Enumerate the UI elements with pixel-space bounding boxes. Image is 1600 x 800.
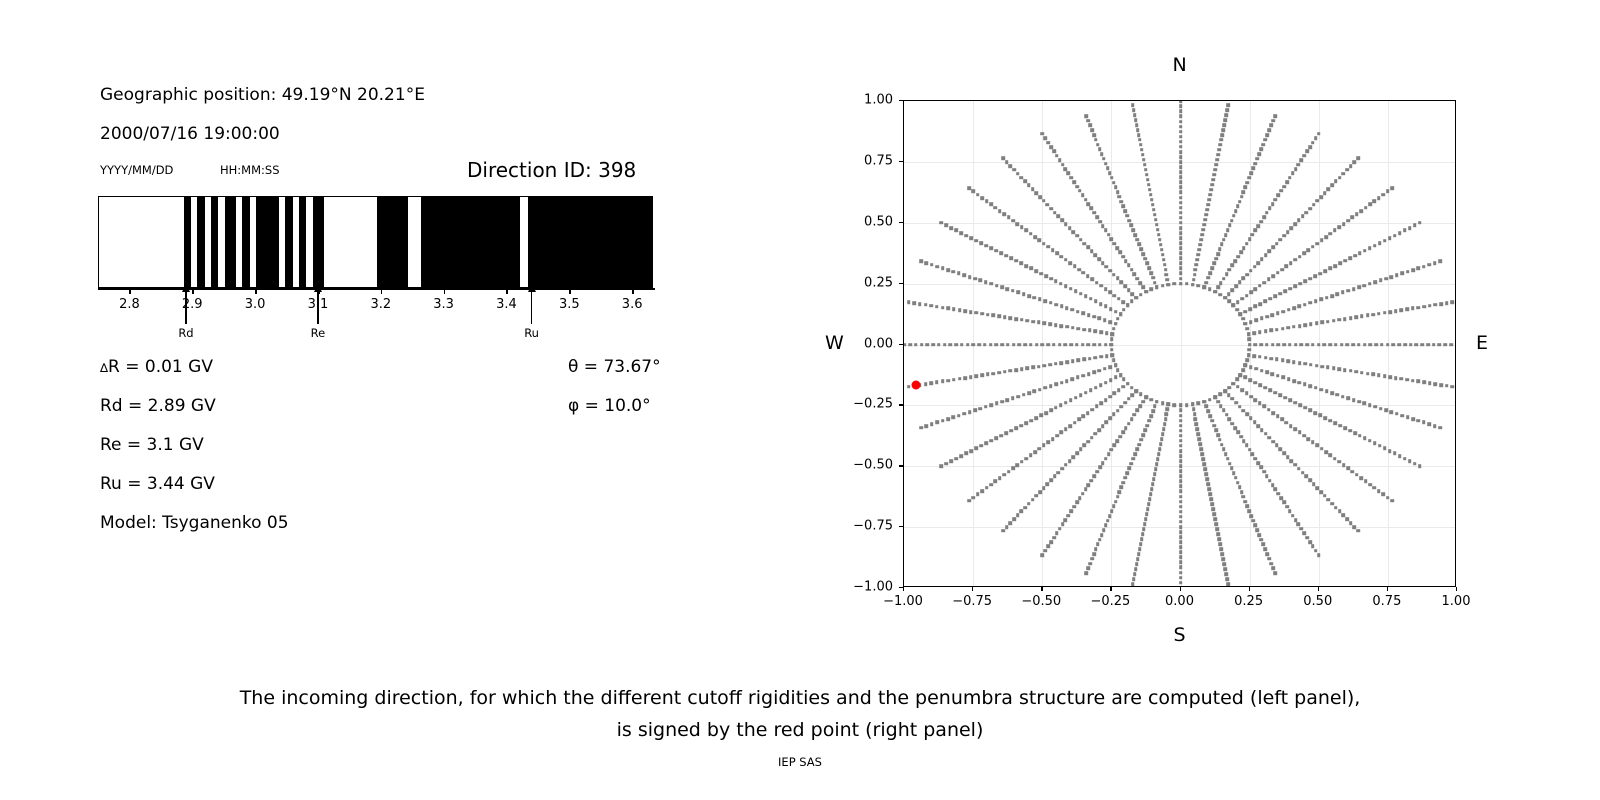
direction-dot — [1213, 395, 1217, 399]
direction-dot — [1351, 343, 1355, 347]
direction-dot — [1179, 201, 1183, 205]
direction-dot — [1250, 514, 1254, 518]
direction-dot — [966, 343, 970, 347]
direction-dot — [1198, 248, 1202, 252]
direction-dot — [1208, 198, 1212, 202]
direction-dot — [1368, 203, 1372, 207]
direction-dot — [1092, 315, 1096, 319]
direction-dot — [1144, 517, 1148, 521]
direction-dot — [1202, 458, 1206, 462]
direction-dot — [1166, 408, 1170, 412]
direction-dot — [1323, 269, 1327, 273]
direction-dot — [1011, 396, 1015, 400]
direction-dot — [1256, 461, 1260, 465]
direction-dot — [1071, 230, 1075, 234]
direction-dot — [912, 301, 916, 305]
direction-dot — [1315, 364, 1319, 368]
direction-dot — [1212, 262, 1216, 266]
direction-dot — [1223, 389, 1227, 393]
direction-dot — [1258, 383, 1262, 387]
direction-dot — [1023, 506, 1027, 510]
direction-dot — [989, 282, 993, 286]
direction-dot — [1305, 343, 1309, 347]
direction-dot — [1366, 372, 1370, 376]
direction-dot — [1214, 517, 1218, 521]
direction-dot — [1330, 294, 1334, 298]
direction-dot — [994, 249, 998, 253]
param-model: Model: Tsyganenko 05 — [100, 513, 289, 533]
direction-dot — [1337, 318, 1341, 322]
direction-dot — [1236, 481, 1240, 485]
direction-dot — [1068, 261, 1072, 265]
direction-dot — [1265, 370, 1269, 374]
time-format-hint: HH:MM:SS — [220, 163, 280, 177]
direction-dot — [1199, 443, 1203, 447]
direction-dot — [1061, 163, 1065, 167]
direction-dot — [1179, 424, 1183, 428]
direction-dot — [1208, 414, 1212, 418]
direction-dot — [1191, 283, 1195, 287]
forbidden-band — [377, 197, 408, 287]
direction-dot — [1094, 386, 1098, 390]
direction-dot — [1024, 229, 1028, 233]
direction-dot — [1110, 237, 1114, 241]
direction-dot — [1357, 286, 1361, 290]
direction-dot — [1317, 553, 1321, 557]
direction-dot — [1179, 246, 1183, 250]
compass-east-label: E — [1476, 332, 1488, 354]
direction-dot — [1248, 343, 1252, 347]
direction-dot — [1360, 371, 1364, 375]
direction-dot — [1293, 284, 1297, 288]
direction-dot — [1218, 393, 1222, 397]
selected-direction-marker[interactable] — [912, 380, 921, 389]
direction-dot — [1297, 218, 1301, 222]
direction-dot — [1302, 251, 1306, 255]
direction-dot — [1179, 530, 1183, 534]
direction-dot — [1055, 434, 1059, 438]
direction-dot — [1038, 388, 1042, 392]
direction-dot — [1104, 457, 1108, 461]
direction-dot — [1203, 463, 1207, 467]
direction-dot — [1117, 388, 1121, 392]
direction-dot — [1185, 282, 1189, 286]
direction-dot — [1214, 168, 1218, 172]
direction-dot — [1244, 322, 1248, 326]
direction-dot — [1108, 416, 1112, 420]
y-axis-tick-label: 0.25 — [841, 275, 893, 290]
direction-dot — [1262, 470, 1266, 474]
direction-dot — [1222, 448, 1226, 452]
y-axis-tick-label: 0.75 — [841, 153, 893, 168]
direction-dot — [1060, 361, 1064, 365]
gridline-horizontal — [904, 345, 1455, 346]
direction-dot — [1034, 494, 1038, 498]
direction-dot — [1218, 438, 1222, 442]
direction-dot — [1029, 453, 1033, 457]
direction-dot — [1328, 419, 1332, 423]
direction-dot — [1110, 343, 1114, 347]
direction-dot — [1363, 436, 1367, 440]
x-axis-tick — [1387, 587, 1388, 591]
direction-dot — [1244, 364, 1248, 368]
direction-dot — [1210, 266, 1214, 270]
direction-dot — [1213, 173, 1217, 177]
direction-dot — [1283, 396, 1287, 400]
direction-dot — [1158, 238, 1162, 242]
direction-dot — [924, 382, 928, 386]
direction-dot — [1238, 200, 1242, 204]
direction-dot — [1253, 524, 1257, 528]
direction-dot — [1145, 262, 1149, 266]
direction-dot — [1179, 231, 1183, 235]
direction-dot — [1209, 193, 1213, 197]
direction-dot — [1242, 495, 1246, 499]
direction-dot — [1016, 291, 1020, 295]
direction-dot — [1179, 510, 1183, 514]
direction-dot — [945, 462, 949, 466]
direction-dot — [1304, 211, 1308, 215]
direction-dot — [1046, 440, 1050, 444]
direction-dot — [1084, 295, 1088, 299]
direction-dot — [1016, 513, 1020, 517]
direction-dot — [1314, 549, 1318, 553]
direction-dot — [1139, 143, 1143, 147]
direction-dot — [1258, 330, 1262, 334]
direction-dot — [1131, 582, 1135, 586]
direction-dot — [1074, 289, 1078, 293]
direction-dot — [1330, 391, 1334, 395]
direction-dot — [918, 302, 922, 306]
direction-dot — [1112, 181, 1116, 185]
direction-dot — [1392, 343, 1396, 347]
direction-dot — [946, 417, 950, 421]
direction-dot — [1095, 405, 1099, 409]
direction-dot — [1403, 343, 1407, 347]
direction-dot — [1027, 184, 1031, 188]
direction-dot — [1094, 547, 1098, 551]
direction-dot — [1427, 422, 1431, 426]
direction-dot — [1388, 449, 1392, 453]
direction-dot — [1009, 316, 1013, 320]
direction-dot — [1133, 452, 1137, 456]
direction-dot — [1197, 284, 1201, 288]
direction-dot — [1009, 521, 1013, 525]
direction-dot — [1308, 207, 1312, 211]
direction-dot — [1116, 495, 1120, 499]
direction-dot — [1179, 469, 1183, 473]
direction-dot — [1059, 282, 1063, 286]
direction-dot — [1154, 467, 1158, 471]
direction-dot — [1242, 246, 1246, 250]
direction-dot — [1018, 343, 1022, 347]
direction-dot — [958, 308, 962, 312]
direction-dot — [1135, 123, 1139, 127]
direction-dot — [976, 493, 980, 497]
direction-dot — [1084, 571, 1088, 575]
direction-dot — [1257, 152, 1261, 156]
direction-dot — [1420, 343, 1424, 347]
direction-dot — [1445, 301, 1449, 305]
direction-dot — [1192, 278, 1196, 282]
direction-dot — [1114, 322, 1118, 326]
direction-dot — [1276, 271, 1280, 275]
direction-dot — [985, 199, 989, 203]
direction-dot — [1261, 143, 1265, 147]
direction-dot — [967, 499, 971, 503]
direction-dot — [1276, 414, 1280, 418]
y-axis-tick-label: −0.75 — [841, 519, 893, 534]
direction-dot — [979, 241, 983, 245]
caption-line-1: The incoming direction, for which the di… — [0, 682, 1600, 714]
direction-dot — [1081, 311, 1085, 315]
direction-dot — [1049, 384, 1053, 388]
direction-dot — [1195, 423, 1199, 427]
direction-dot — [949, 226, 953, 230]
direction-dot — [1108, 365, 1112, 369]
direction-dot — [1371, 313, 1375, 317]
direction-dot — [1012, 517, 1016, 521]
direction-dot — [1275, 328, 1279, 332]
direction-dot — [1002, 212, 1006, 216]
direction-dot — [1277, 193, 1281, 197]
direction-dot — [1267, 128, 1271, 132]
direction-dot — [1248, 348, 1252, 352]
direction-dot — [1291, 514, 1295, 518]
direction-dot — [979, 407, 983, 411]
direction-dot — [1388, 375, 1392, 379]
x-axis-tick-label: 1.00 — [1442, 594, 1471, 609]
direction-dot — [1016, 172, 1020, 176]
y-axis-tick-label: −1.00 — [841, 580, 893, 595]
direction-dot — [1386, 190, 1390, 194]
direction-dot — [1363, 402, 1367, 406]
direction-dot — [1064, 401, 1068, 405]
direction-dot — [1074, 396, 1078, 400]
direction-dot — [1240, 195, 1244, 199]
direction-id-label: Direction ID: 398 — [467, 158, 636, 182]
direction-dot — [1020, 318, 1024, 322]
direction-dot — [989, 203, 993, 207]
direction-dot — [1120, 486, 1124, 490]
direction-dot — [1262, 281, 1266, 285]
direction-dot — [1179, 449, 1183, 453]
direction-dot — [1232, 382, 1236, 386]
direction-dot — [1043, 386, 1047, 390]
direction-dot — [1242, 439, 1246, 443]
direction-dot — [1226, 108, 1230, 112]
direction-dot — [1110, 348, 1114, 352]
x-axis-tick — [1249, 587, 1250, 591]
penumbra-axis-tick-label: 3.4 — [496, 297, 517, 312]
direction-dot — [1438, 343, 1442, 347]
direction-dot — [954, 457, 958, 461]
direction-dot — [1087, 483, 1091, 487]
direction-dot — [1273, 391, 1277, 395]
direction-dot — [931, 343, 935, 347]
direction-dot — [1076, 376, 1080, 380]
direction-dot — [964, 234, 968, 238]
direction-dot — [1065, 306, 1069, 310]
direction-dot — [1075, 343, 1079, 347]
direction-dot — [1285, 505, 1289, 509]
direction-dot — [1211, 183, 1215, 187]
x-axis-tick — [903, 587, 904, 591]
direction-dot — [1079, 393, 1083, 397]
penumbra-bar — [98, 196, 653, 288]
direction-dot — [1143, 522, 1147, 526]
direction-dot — [1366, 314, 1370, 318]
direction-dot — [1236, 300, 1240, 304]
direction-dot — [1098, 317, 1102, 321]
direction-dot — [1320, 365, 1324, 369]
direction-dot — [1107, 233, 1111, 237]
direction-dot — [1082, 414, 1086, 418]
geographic-position-text: Geographic position: 49.19°N 20.21°E — [100, 85, 425, 105]
direction-dot — [1049, 479, 1053, 483]
rigidity-marker-arrowhead — [528, 284, 536, 292]
direction-dot — [968, 410, 972, 414]
direction-dot — [1072, 180, 1076, 184]
direction-dot — [1219, 143, 1223, 147]
direction-dot — [1064, 343, 1068, 347]
direction-dot — [1108, 395, 1112, 399]
direction-dot — [1311, 545, 1315, 549]
direction-dot — [1099, 302, 1103, 306]
direction-dot — [1288, 509, 1292, 513]
penumbra-axis-tick — [444, 288, 446, 294]
direction-dot — [1317, 132, 1321, 136]
direction-dot — [1110, 337, 1114, 341]
direction-dot — [1241, 368, 1245, 372]
direction-dot — [1215, 522, 1219, 526]
rigidity-marker-arrow — [185, 290, 187, 324]
direction-dot — [1039, 272, 1043, 276]
direction-dot — [1095, 470, 1099, 474]
direction-dot — [1256, 261, 1260, 265]
direction-dot — [1054, 303, 1058, 307]
direction-dot — [1094, 138, 1098, 142]
direction-dot — [1090, 479, 1094, 483]
direction-dot — [1104, 381, 1108, 385]
direction-dot — [1282, 185, 1286, 189]
y-axis-tick — [899, 100, 903, 101]
direction-dot — [994, 480, 998, 484]
direction-dot — [1157, 233, 1161, 237]
direction-dot — [1179, 211, 1183, 215]
direction-dot — [1213, 290, 1217, 294]
direction-dot — [941, 306, 945, 310]
direction-dot — [1255, 157, 1259, 161]
direction-dot — [1120, 200, 1124, 204]
direction-dot — [1104, 398, 1108, 402]
direction-dot — [1150, 198, 1154, 202]
direction-dot — [1369, 343, 1373, 347]
direction-dot — [1325, 296, 1329, 300]
direction-dot — [1305, 536, 1309, 540]
direction-dot — [1179, 419, 1183, 423]
direction-dot — [1231, 422, 1235, 426]
direction-dot — [1179, 130, 1183, 134]
direction-dot — [1406, 270, 1410, 274]
direction-dot — [1353, 160, 1357, 164]
direction-dot — [1303, 383, 1307, 387]
direction-dot — [1116, 409, 1120, 413]
direction-dot — [1222, 128, 1226, 132]
direction-dot — [1060, 431, 1064, 435]
direction-dot — [1179, 160, 1183, 164]
direction-dot — [1092, 133, 1096, 137]
direction-dot — [937, 343, 941, 347]
direction-dot — [1023, 180, 1027, 184]
direction-dot — [1309, 384, 1313, 388]
direction-dot — [1004, 254, 1008, 258]
direction-dot — [957, 272, 961, 276]
direction-dot — [1136, 557, 1140, 561]
direction-dot — [1224, 118, 1228, 122]
direction-dot — [1114, 500, 1118, 504]
direction-dot — [1244, 500, 1248, 504]
direction-dot — [1130, 268, 1134, 272]
direction-dot — [1076, 310, 1080, 314]
direction-dot — [1220, 243, 1224, 247]
direction-dot — [1029, 267, 1033, 271]
direction-dot — [1024, 264, 1028, 268]
direction-dot — [1271, 202, 1275, 206]
direction-dot — [1029, 232, 1033, 236]
direction-dot — [1127, 397, 1131, 401]
direction-dot — [1213, 512, 1217, 516]
direction-dot — [1069, 287, 1073, 291]
direction-dot — [1048, 322, 1052, 326]
direction-dot — [1179, 454, 1183, 458]
direction-dot — [1131, 228, 1135, 232]
direction-dot — [1105, 354, 1109, 358]
direction-dot — [949, 343, 953, 347]
direction-dot — [1166, 278, 1170, 282]
direction-dot — [1208, 271, 1212, 275]
direction-dot — [1209, 492, 1213, 496]
direction-dot — [1258, 284, 1262, 288]
direction-dot — [1118, 251, 1122, 255]
direction-dot — [1103, 367, 1107, 371]
direction-dot — [1238, 486, 1242, 490]
direction-dot — [940, 464, 944, 468]
direction-dot — [1135, 562, 1139, 566]
direction-dot — [1349, 369, 1353, 373]
direction-dot — [1443, 343, 1447, 347]
direction-dot — [1101, 224, 1105, 228]
direction-dot — [1226, 457, 1230, 461]
direction-dot — [949, 459, 953, 463]
direction-dot — [1258, 302, 1262, 306]
direction-dot — [1298, 305, 1302, 309]
direction-dot — [1393, 452, 1397, 456]
direction-dot — [1053, 475, 1057, 479]
direction-dot — [1117, 297, 1121, 301]
direction-dot — [1274, 488, 1278, 492]
direction-dot — [1179, 439, 1183, 443]
direction-dot — [1091, 408, 1095, 412]
direction-dot — [1118, 435, 1122, 439]
direction-dot — [1253, 265, 1257, 269]
direction-dot — [1356, 529, 1360, 533]
direction-dot — [1020, 176, 1024, 180]
direction-dot — [1004, 431, 1008, 435]
direction-dot — [1124, 259, 1128, 263]
direction-dot — [985, 486, 989, 490]
direction-dot — [1086, 119, 1090, 123]
